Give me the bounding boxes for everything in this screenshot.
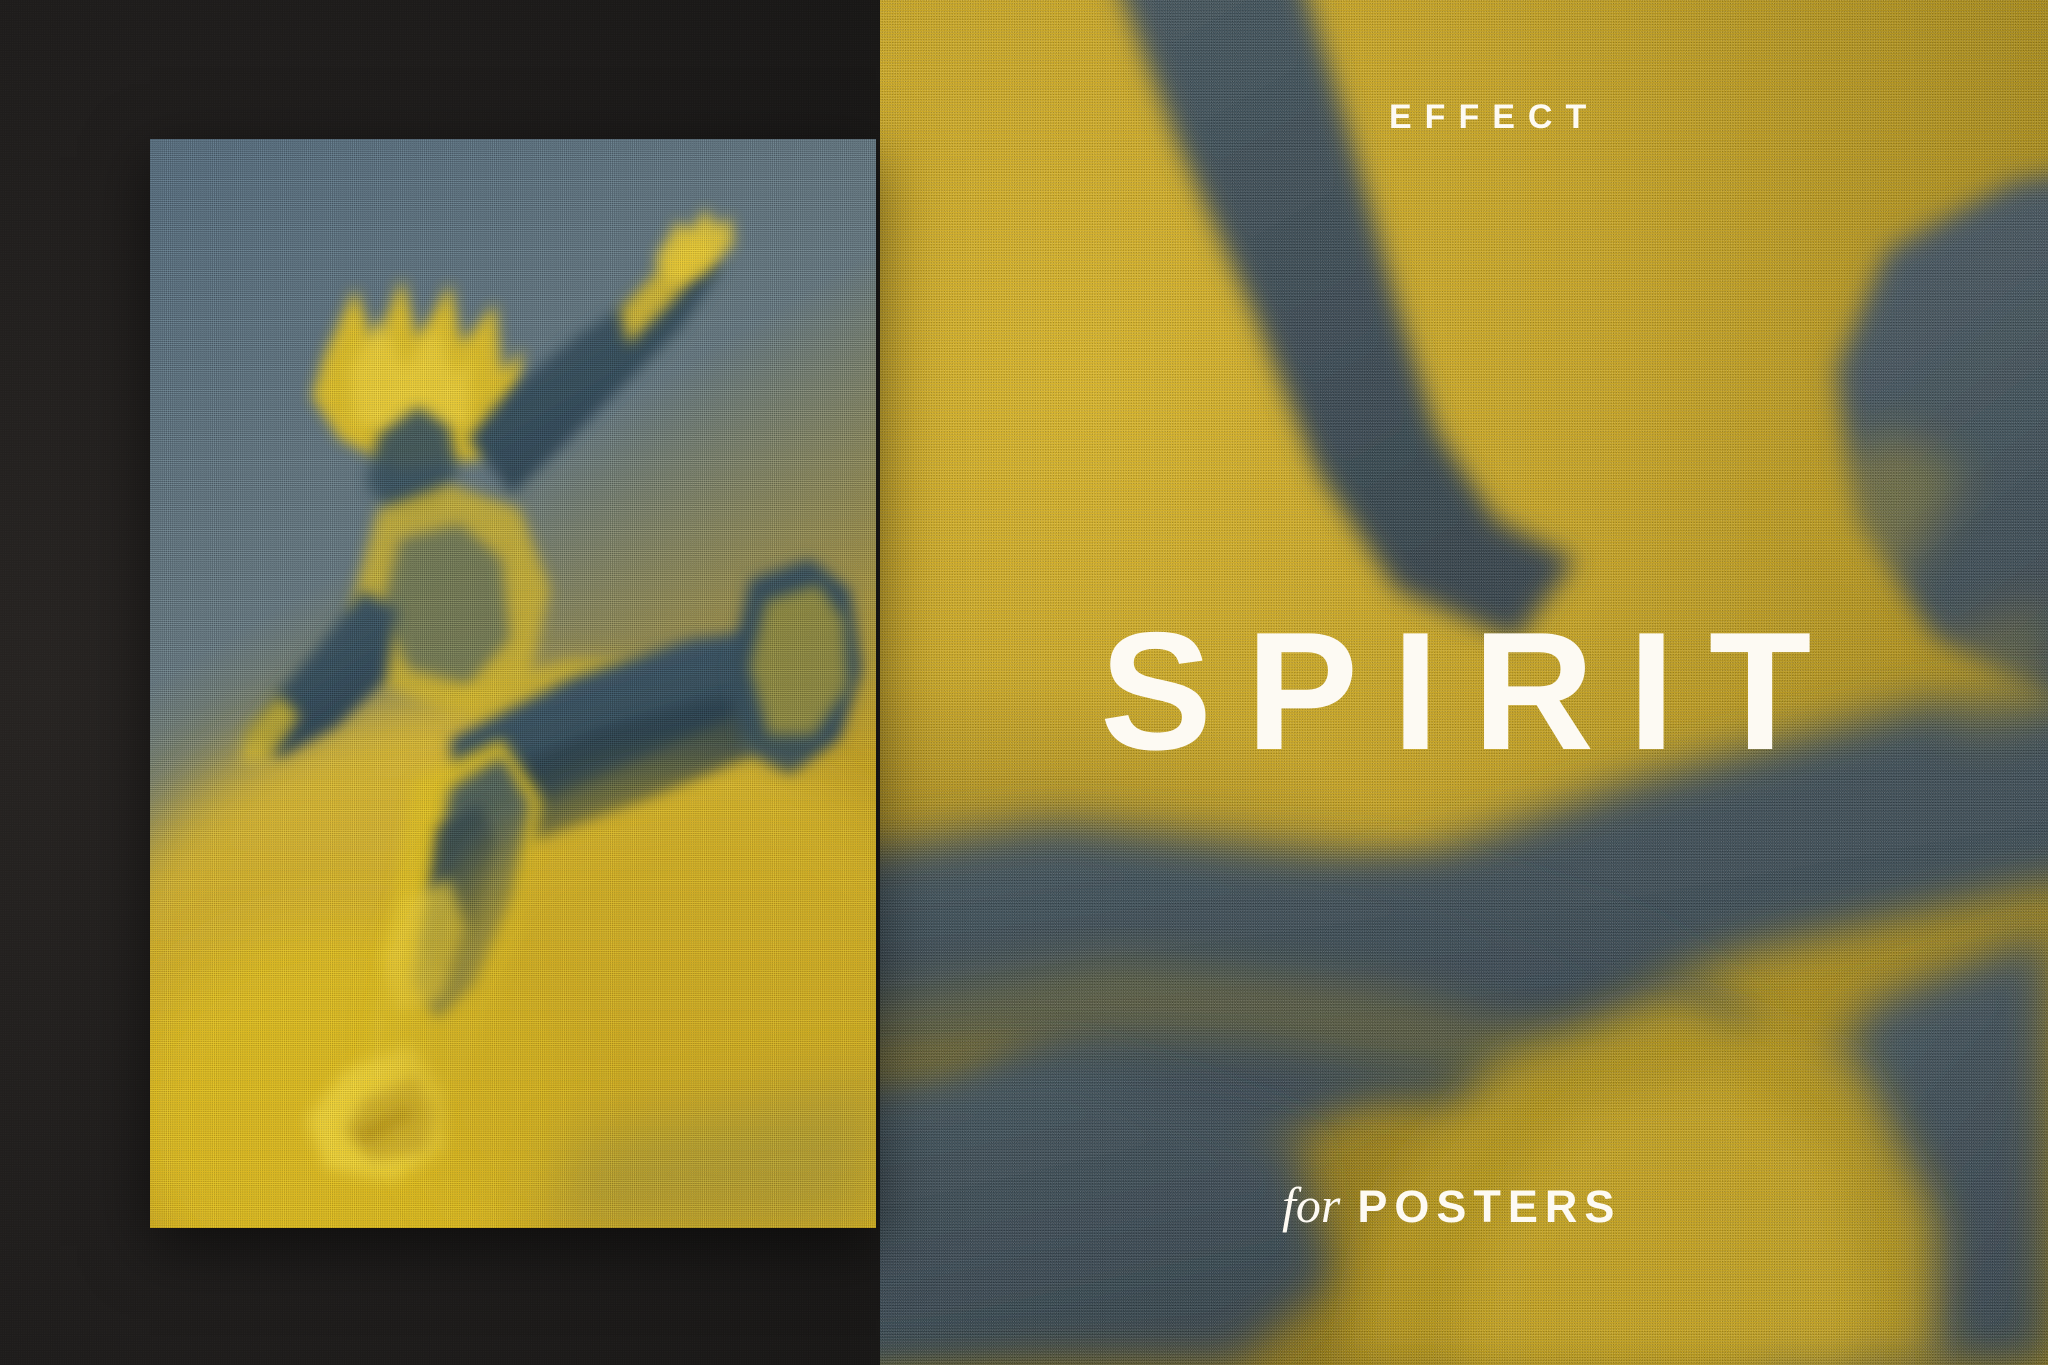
eyebrow-text: EFFECT	[1389, 100, 1599, 134]
footer-text: for POSTERS	[1282, 1180, 1621, 1230]
headline-text: SPIRIT	[1100, 607, 1845, 775]
mockup-canvas: EFFECT SPIRIT for POSTERS	[0, 0, 2048, 1365]
poster-halftone-overlay	[150, 139, 876, 1228]
footer-italic-word: for	[1282, 1180, 1340, 1230]
poster-mockup-card[interactable]	[150, 139, 876, 1228]
footer-bold-word: POSTERS	[1357, 1184, 1621, 1229]
